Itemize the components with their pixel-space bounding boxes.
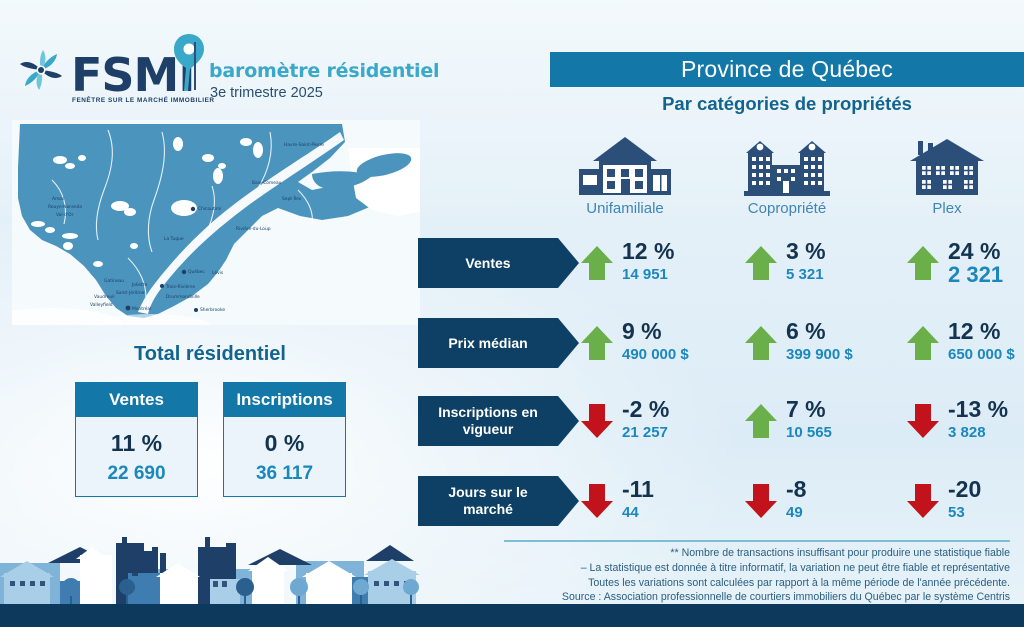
single-family-house-icon	[550, 132, 700, 197]
metric-pct: 3 %	[786, 238, 912, 264]
metric-pct: 7 %	[786, 396, 912, 422]
metric-pct: 12 %	[622, 238, 748, 264]
trend-arrow-up-icon	[744, 402, 778, 440]
metric-pct: 9 %	[622, 318, 748, 344]
trend-arrow-up-icon	[580, 324, 614, 362]
metric-count: 2 321	[948, 265, 1024, 284]
category-copropriete: Copropriété	[712, 132, 862, 217]
category-plex-label: Plex	[872, 200, 1022, 217]
svg-text:Amos: Amos	[52, 196, 65, 202]
total-box-inscriptions-label: Inscriptions	[224, 383, 345, 417]
section-subtitle: Par catégories de propriétés	[550, 93, 1024, 115]
metric-cell-prix-plex: 12 % 650 000 $	[906, 318, 1024, 370]
metric-cell-prix-copropriete: 6 % 399 900 $	[744, 318, 912, 370]
total-box-ventes-pct: 11 %	[76, 430, 197, 457]
metric-cell-ventes-unifamiliale: 12 % 14 951	[580, 238, 748, 290]
metric-cell-inscriptions-plex: -13 % 3 828	[906, 396, 1024, 448]
metric-cell-ventes-copropriete: 3 % 5 321	[744, 238, 912, 290]
svg-text:Rouyn-Noranda: Rouyn-Noranda	[48, 204, 82, 210]
total-box-ventes: Ventes 11 % 22 690	[75, 382, 198, 497]
metric-cell-prix-unifamiliale: 9 % 490 000 $	[580, 318, 748, 370]
metric-label-inscriptions-en-vigueur: Inscriptions en vigueur	[418, 396, 558, 446]
category-unifamiliale: Unifamiliale	[550, 132, 700, 217]
metric-count: 44	[622, 503, 748, 522]
metric-pct: -11	[622, 476, 748, 502]
metric-cell-jours-copropriete: -8 49	[744, 476, 912, 528]
product-name: baromètre résidentiel	[209, 60, 439, 82]
metric-pct: 12 %	[948, 318, 1024, 344]
metric-count: 21 257	[622, 423, 748, 442]
trend-arrow-up-icon	[580, 244, 614, 282]
total-box-inscriptions: Inscriptions 0 % 36 117	[223, 382, 346, 497]
svg-text:La Tuque: La Tuque	[164, 236, 184, 242]
metric-count: 399 900 $	[786, 345, 912, 364]
metric-tag-arrowhead	[558, 318, 579, 368]
metric-tag-arrowhead	[558, 396, 579, 446]
trend-arrow-down-icon	[906, 402, 940, 440]
svg-text:Valleyfield: Valleyfield	[90, 302, 113, 308]
trend-arrow-up-icon	[744, 244, 778, 282]
trend-arrow-up-icon	[906, 324, 940, 362]
footnote-line: Toutes les variations sont calculées par…	[504, 576, 1010, 591]
svg-text:Chicoutimi: Chicoutimi	[198, 206, 221, 212]
metric-cell-jours-plex: -20 53	[906, 476, 1024, 528]
plex-house-icon	[872, 132, 1022, 197]
total-box-ventes-count: 22 690	[76, 463, 197, 485]
city-skyline-illustration	[0, 533, 420, 605]
header: FSMI FENÊTRE SUR LE MARCHÉ IMMOBILIER ba…	[0, 0, 1024, 118]
metric-count: 3 828	[948, 423, 1024, 442]
metric-pct: -20	[948, 476, 1024, 502]
svg-text:Sept-Îles: Sept-Îles	[282, 195, 302, 202]
map-pin-icon	[167, 33, 205, 91]
svg-text:Trois-Rivières: Trois-Rivières	[165, 283, 196, 290]
total-box-ventes-label: Ventes	[76, 383, 197, 417]
bottom-bar-right	[420, 604, 1024, 627]
fsmi-tagline: FENÊTRE SUR LE MARCHÉ IMMOBILIER	[72, 97, 215, 104]
footnote-line: ** Nombre de transactions insuffisant po…	[504, 546, 1010, 561]
condo-building-icon	[712, 132, 862, 197]
metric-cell-inscriptions-unifamiliale: -2 % 21 257	[580, 396, 748, 448]
trend-arrow-down-icon	[906, 482, 940, 520]
region-title-banner: Province de Québec	[550, 52, 1024, 87]
svg-text:Havre-Saint-Pierre: Havre-Saint-Pierre	[284, 142, 324, 148]
metric-cell-jours-unifamiliale: -11 44	[580, 476, 748, 528]
footnote-line: – La statistique est donnée à titre info…	[504, 561, 1010, 576]
metric-row-ventes: Ventes 12 % 14 951 3 % 5 321 24 % 2 321	[418, 238, 1024, 294]
bottom-bar-left	[0, 604, 420, 627]
svg-text:Vaudreuil: Vaudreuil	[94, 294, 115, 300]
footnote-divider	[504, 540, 1010, 542]
trend-arrow-down-icon	[744, 482, 778, 520]
svg-text:Joliette: Joliette	[131, 282, 148, 288]
metric-count: 650 000 $	[948, 345, 1024, 364]
metric-count: 14 951	[622, 265, 748, 284]
trend-arrow-down-icon	[580, 402, 614, 440]
svg-text:Drummondville: Drummondville	[166, 294, 200, 300]
metric-row-inscriptions-en-vigueur: Inscriptions en vigueur -2 % 21 257 7 % …	[418, 396, 1024, 452]
metric-tag-arrowhead	[558, 238, 579, 288]
infographic-canvas: FSMI FENÊTRE SUR LE MARCHÉ IMMOBILIER ba…	[0, 0, 1024, 627]
region-title-text: Province de Québec	[681, 56, 893, 83]
fsmi-logo: FSMI FENÊTRE SUR LE MARCHÉ IMMOBILIER	[14, 30, 199, 104]
total-box-inscriptions-count: 36 117	[224, 463, 345, 485]
category-header-row: Unifamiliale	[548, 132, 1024, 222]
footnotes: ** Nombre de transactions insuffisant po…	[504, 546, 1010, 605]
metric-pct: 24 %	[948, 238, 1024, 264]
metric-pct: -2 %	[622, 396, 748, 422]
svg-text:Québec: Québec	[188, 268, 205, 275]
svg-text:Lévis: Lévis	[212, 269, 224, 276]
trend-arrow-up-icon	[906, 244, 940, 282]
metric-row-prix-median: Prix médian 9 % 490 000 $ 6 % 399 900 $ …	[418, 318, 1024, 374]
svg-text:Sherbrooke: Sherbrooke	[200, 307, 225, 313]
trend-arrow-up-icon	[744, 324, 778, 362]
total-residential-title: Total résidentiel	[14, 343, 406, 366]
metric-label-ventes: Ventes	[418, 238, 558, 288]
footnote-line: Source : Association professionnelle de …	[504, 590, 1010, 605]
svg-text:Gatineau: Gatineau	[104, 278, 124, 284]
metric-label-jours-sur-le-marche: Jours sur le marché	[418, 476, 558, 526]
metric-tag-arrowhead	[558, 476, 579, 526]
metric-pct: -13 %	[948, 396, 1024, 422]
metric-count: 10 565	[786, 423, 912, 442]
metric-count: 53	[948, 503, 1024, 522]
svg-text:Val-d'Or: Val-d'Or	[56, 212, 74, 218]
pinwheel-logo-icon	[14, 48, 68, 92]
metric-cell-ventes-plex: 24 % 2 321	[906, 238, 1024, 290]
metric-count: 49	[786, 503, 912, 522]
metric-row-jours-sur-le-marche: Jours sur le marché -11 44 -8 49 -20 53	[418, 476, 1024, 532]
metric-count: 5 321	[786, 265, 912, 284]
metric-cell-inscriptions-copropriete: 7 % 10 565	[744, 396, 912, 448]
metric-count: 490 000 $	[622, 345, 748, 364]
category-plex: Plex	[872, 132, 1022, 217]
period-label: 3e trimestre 2025	[210, 85, 323, 101]
svg-text:Montréal: Montréal	[132, 305, 151, 312]
metric-label-prix-median: Prix médian	[418, 318, 558, 368]
svg-text:Baie-Comeau: Baie-Comeau	[252, 180, 282, 186]
metric-pct: 6 %	[786, 318, 912, 344]
quebec-map: Chicoutimi Québec Trois-Rivières Montréa…	[12, 120, 420, 325]
header-divider	[194, 42, 196, 90]
trend-arrow-down-icon	[580, 482, 614, 520]
category-copropriete-label: Copropriété	[712, 200, 862, 217]
category-unifamiliale-label: Unifamiliale	[550, 200, 700, 217]
svg-text:Saint-Jérôme: Saint-Jérôme	[116, 289, 145, 296]
metric-pct: -8	[786, 476, 912, 502]
total-box-inscriptions-pct: 0 %	[224, 430, 345, 457]
svg-text:Rivière-du-Loup: Rivière-du-Loup	[236, 225, 271, 232]
